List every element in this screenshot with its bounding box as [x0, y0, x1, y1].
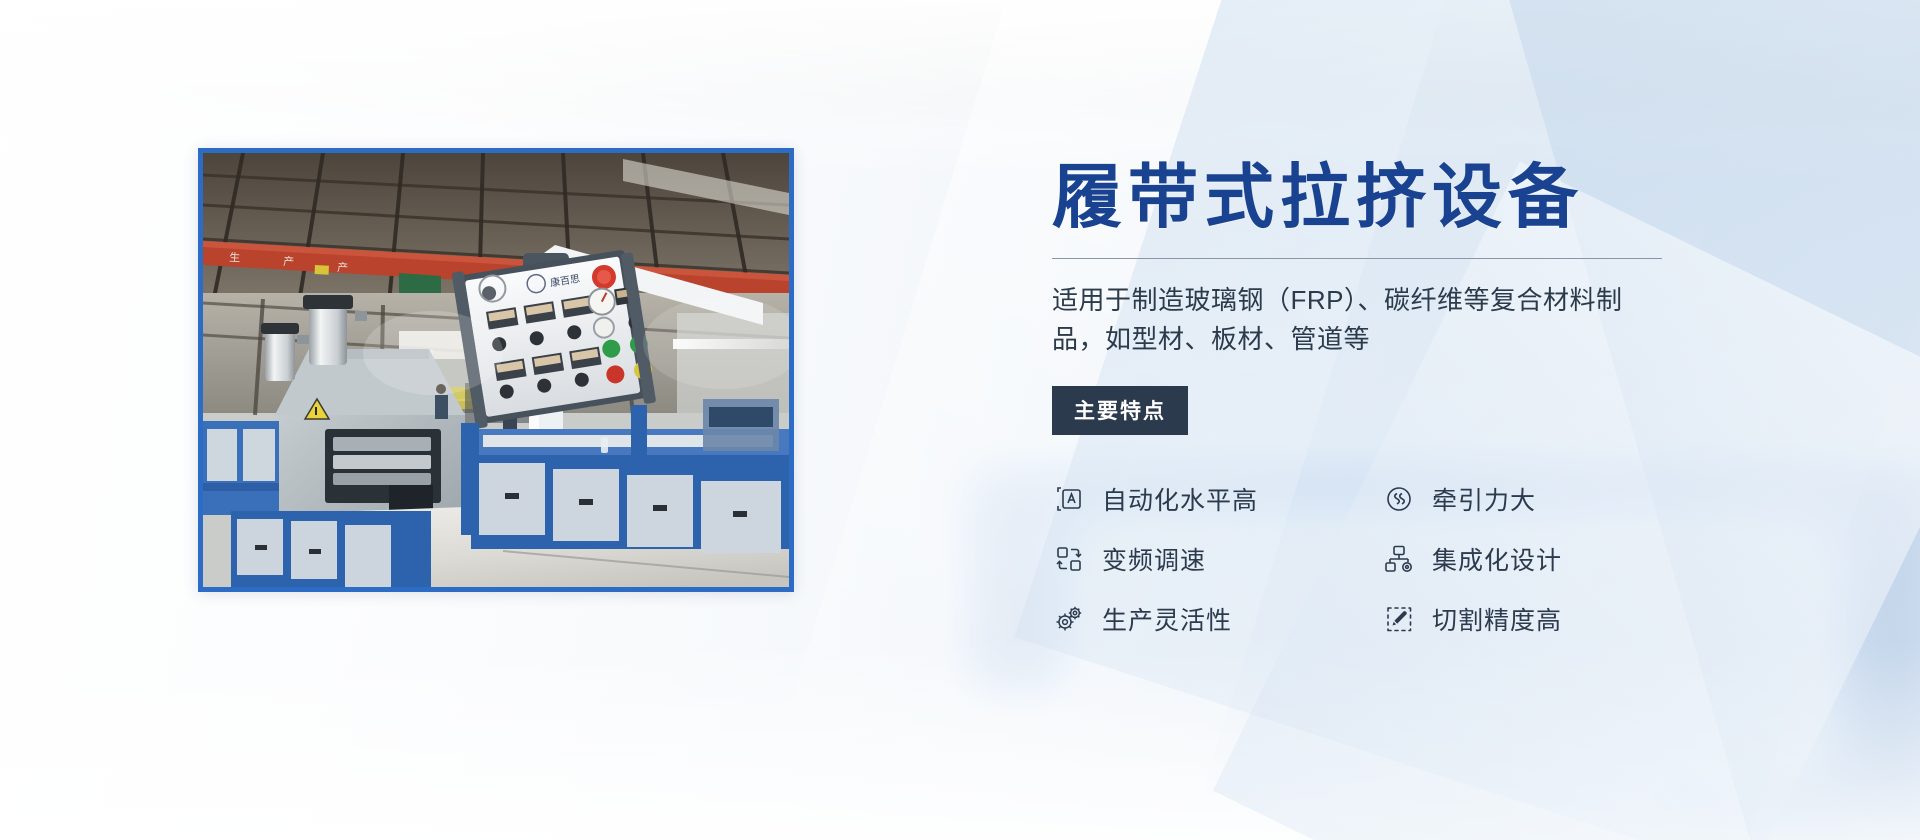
- integration-icon: [1382, 542, 1416, 576]
- section-badge: 主要特点: [1052, 386, 1188, 435]
- product-description: 适用于制造玻璃钢（FRP）、碳纤维等复合材料制品，如型材、板材、管道等: [1052, 281, 1672, 360]
- product-photo-image: 生 产 产: [203, 153, 789, 587]
- frequency-icon: [1052, 542, 1086, 576]
- product-photo-frame: 生 产 产: [198, 148, 794, 592]
- feature-list: 自动化水平高 牵引力大: [1052, 469, 1712, 649]
- feature-label: 牵引力大: [1432, 481, 1536, 517]
- background-bottom-fade: [0, 640, 1920, 840]
- svg-text:产: 产: [283, 254, 295, 269]
- feature-item-traction: 牵引力大: [1382, 481, 1712, 517]
- page-title: 履带式拉挤设备: [1052, 160, 1712, 236]
- feature-label: 集成化设计: [1432, 541, 1562, 577]
- svg-text:产: 产: [337, 260, 349, 275]
- feature-label: 生产灵活性: [1102, 601, 1232, 637]
- product-photo: 生 产 产: [203, 153, 789, 587]
- feature-item-flexibility: 生产灵活性: [1052, 601, 1382, 637]
- traction-icon: [1382, 482, 1416, 516]
- feature-label: 自动化水平高: [1102, 481, 1258, 517]
- banner-content: 履带式拉挤设备 适用于制造玻璃钢（FRP）、碳纤维等复合材料制品，如型材、板材、…: [1052, 160, 1712, 649]
- automation-icon: [1052, 482, 1086, 516]
- feature-item-integration: 集成化设计: [1382, 541, 1712, 577]
- title-divider: [1052, 258, 1662, 259]
- feature-item-cutting-precision: 切割精度高: [1382, 601, 1712, 637]
- feature-item-frequency: 变频调速: [1052, 541, 1382, 577]
- product-banner: 生 产 产: [0, 0, 1920, 840]
- feature-item-automation: 自动化水平高: [1052, 481, 1382, 517]
- feature-label: 变频调速: [1102, 541, 1206, 577]
- feature-label: 切割精度高: [1432, 601, 1562, 637]
- gears-icon: [1052, 602, 1086, 636]
- svg-text:生: 生: [229, 250, 241, 265]
- precision-cut-icon: [1382, 602, 1416, 636]
